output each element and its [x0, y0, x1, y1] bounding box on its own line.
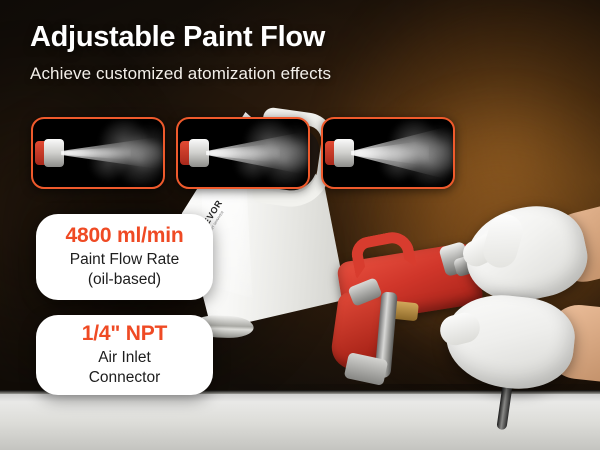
spray-plume [61, 119, 163, 187]
spec-badge-air-inlet: 1/4" NPT Air Inlet Connector [36, 315, 213, 395]
spec-label-line1: Air Inlet [98, 348, 151, 368]
spray-sample-wide [321, 117, 455, 189]
plume-mist [206, 119, 308, 187]
spray-sample-narrow [31, 117, 165, 189]
spray-plume [351, 119, 453, 187]
spec-label-line1: Paint Flow Rate [70, 250, 179, 270]
spray-plume [206, 119, 308, 187]
plume-mist [61, 119, 163, 187]
spec-label-line2: Connector [89, 368, 161, 388]
spec-label-line2: (oil-based) [88, 270, 161, 290]
spec-badge-paint-flow-rate: 4800 ml/min Paint Flow Rate (oil-based) [36, 214, 213, 300]
page-subtitle: Achieve customized atomization effects [30, 64, 331, 84]
spec-value: 1/4" NPT [82, 322, 167, 345]
plume-mist [351, 119, 453, 187]
page-title: Adjustable Paint Flow [30, 22, 325, 54]
spray-sample-medium [176, 117, 310, 189]
spec-value: 4800 ml/min [65, 224, 183, 247]
promo-banner: VEVOR PAINT SPRAYER Adjustable Paint Flo… [0, 0, 600, 450]
